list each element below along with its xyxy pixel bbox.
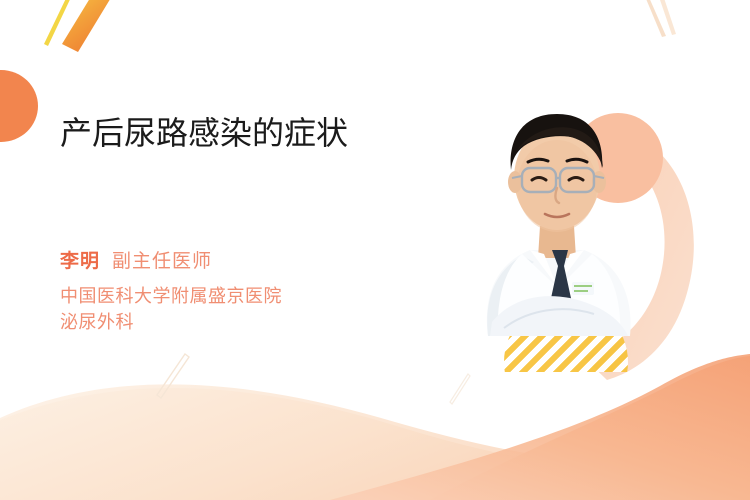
wave-strong-2: [330, 354, 750, 500]
wave-light: [0, 388, 750, 500]
doctor-department: 泌尿外科: [60, 309, 440, 335]
ribbon-orange-stripe: [62, 0, 112, 52]
coat-badge: [572, 282, 594, 295]
wave-light-upper: [0, 384, 750, 500]
doctor-portrait: [452, 86, 662, 336]
faint-stroke-midleft: [145, 350, 205, 405]
doctor-meta-block: 李明 副主任医师 中国医科大学附属盛京医院 泌尿外科: [60, 246, 440, 335]
doctor-intro-card: 产后尿路感染的症状 李明 副主任医师 中国医科大学附属盛京医院 泌尿外科: [0, 0, 750, 500]
title-block: 产后尿路感染的症状: [60, 112, 420, 154]
wave-strong: [430, 356, 750, 500]
ear-left: [508, 171, 522, 193]
doctor-name: 李明: [60, 246, 100, 273]
page-title: 产后尿路感染的症状: [60, 112, 395, 154]
ribbon-decoration-topleft: [0, 0, 140, 80]
ribbon-yellow-line: [44, 0, 74, 46]
faint-stroke-2: [658, 0, 676, 35]
doctor-job-title: 副主任医师: [112, 246, 212, 273]
doctor-name-row: 李明 副主任医师: [60, 246, 440, 273]
orange-circle-decoration: [0, 70, 38, 142]
faint-strokes-topright: [620, 0, 700, 54]
faint-stroke-1: [644, 0, 666, 37]
doctor-hospital: 中国医科大学附属盛京医院: [60, 283, 440, 309]
faint-stroke-midright: [440, 370, 480, 410]
